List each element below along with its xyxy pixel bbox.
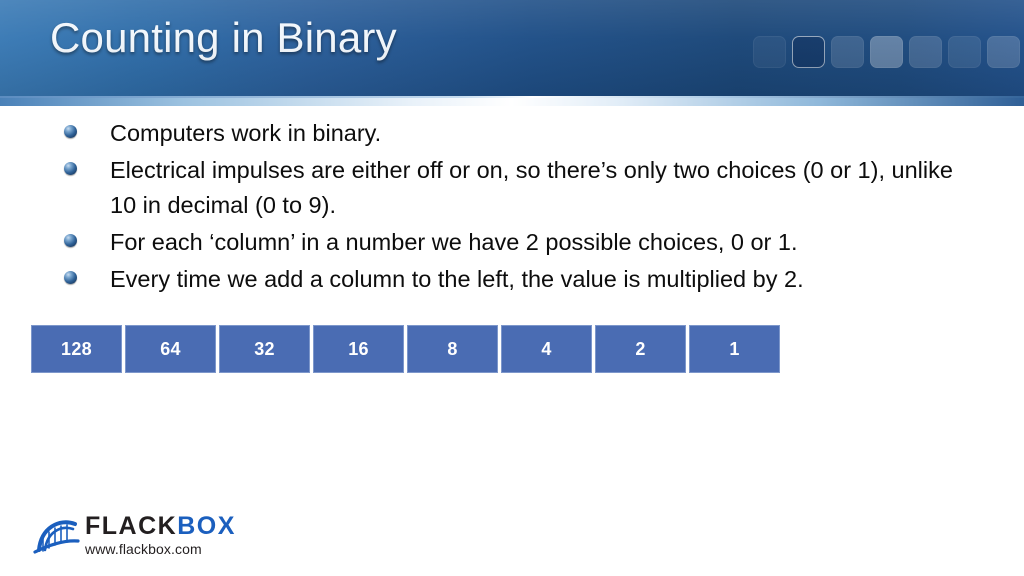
table-cell: 4 <box>501 325 592 373</box>
logo-wordmark: FLACKBOX <box>85 514 236 539</box>
binary-place-value-table: 128 64 32 16 8 4 2 1 <box>31 325 780 373</box>
bullet-text: For each ‘column’ in a number we have 2 … <box>110 225 798 260</box>
flackbox-bridge-icon <box>33 512 81 558</box>
bullet-text: Every time we add a column to the left, … <box>110 262 804 297</box>
table-cell: 128 <box>31 325 122 373</box>
bullet-sphere-icon <box>64 162 77 175</box>
bullet-text: Electrical impulses are either off or on… <box>110 153 955 223</box>
table-cell: 2 <box>595 325 686 373</box>
list-item: Computers work in binary. <box>64 116 964 151</box>
logo-wordmark-flack: FLACK <box>85 512 177 540</box>
bullet-list: Computers work in binary. Electrical imp… <box>64 116 964 299</box>
list-item: Electrical impulses are either off or on… <box>64 153 964 223</box>
table-cell: 32 <box>219 325 310 373</box>
logo-text-block: FLACKBOX www.flackbox.com <box>85 514 236 556</box>
page-title: Counting in Binary <box>50 14 397 62</box>
header-decorative-squares <box>753 36 1024 68</box>
logo-url: www.flackbox.com <box>85 542 236 556</box>
list-item: Every time we add a column to the left, … <box>64 262 964 297</box>
header-square-3 <box>831 36 864 68</box>
header-divider <box>0 96 1024 106</box>
table-cell: 8 <box>407 325 498 373</box>
header-square-4 <box>870 36 903 68</box>
bullet-sphere-icon <box>64 234 77 247</box>
header-square-5 <box>909 36 942 68</box>
bullet-text: Computers work in binary. <box>110 116 381 151</box>
header-square-2 <box>792 36 825 68</box>
table-cell: 1 <box>689 325 780 373</box>
logo-wordmark-box: BOX <box>177 512 236 540</box>
header-square-1 <box>753 36 786 68</box>
bullet-sphere-icon <box>64 125 77 138</box>
header-square-7 <box>987 36 1020 68</box>
header-square-6 <box>948 36 981 68</box>
table-cell: 16 <box>313 325 404 373</box>
bullet-sphere-icon <box>64 271 77 284</box>
slide-header-bar: Counting in Binary <box>0 0 1024 96</box>
flackbox-logo: FLACKBOX www.flackbox.com <box>33 512 236 558</box>
list-item: For each ‘column’ in a number we have 2 … <box>64 225 964 260</box>
table-cell: 64 <box>125 325 216 373</box>
